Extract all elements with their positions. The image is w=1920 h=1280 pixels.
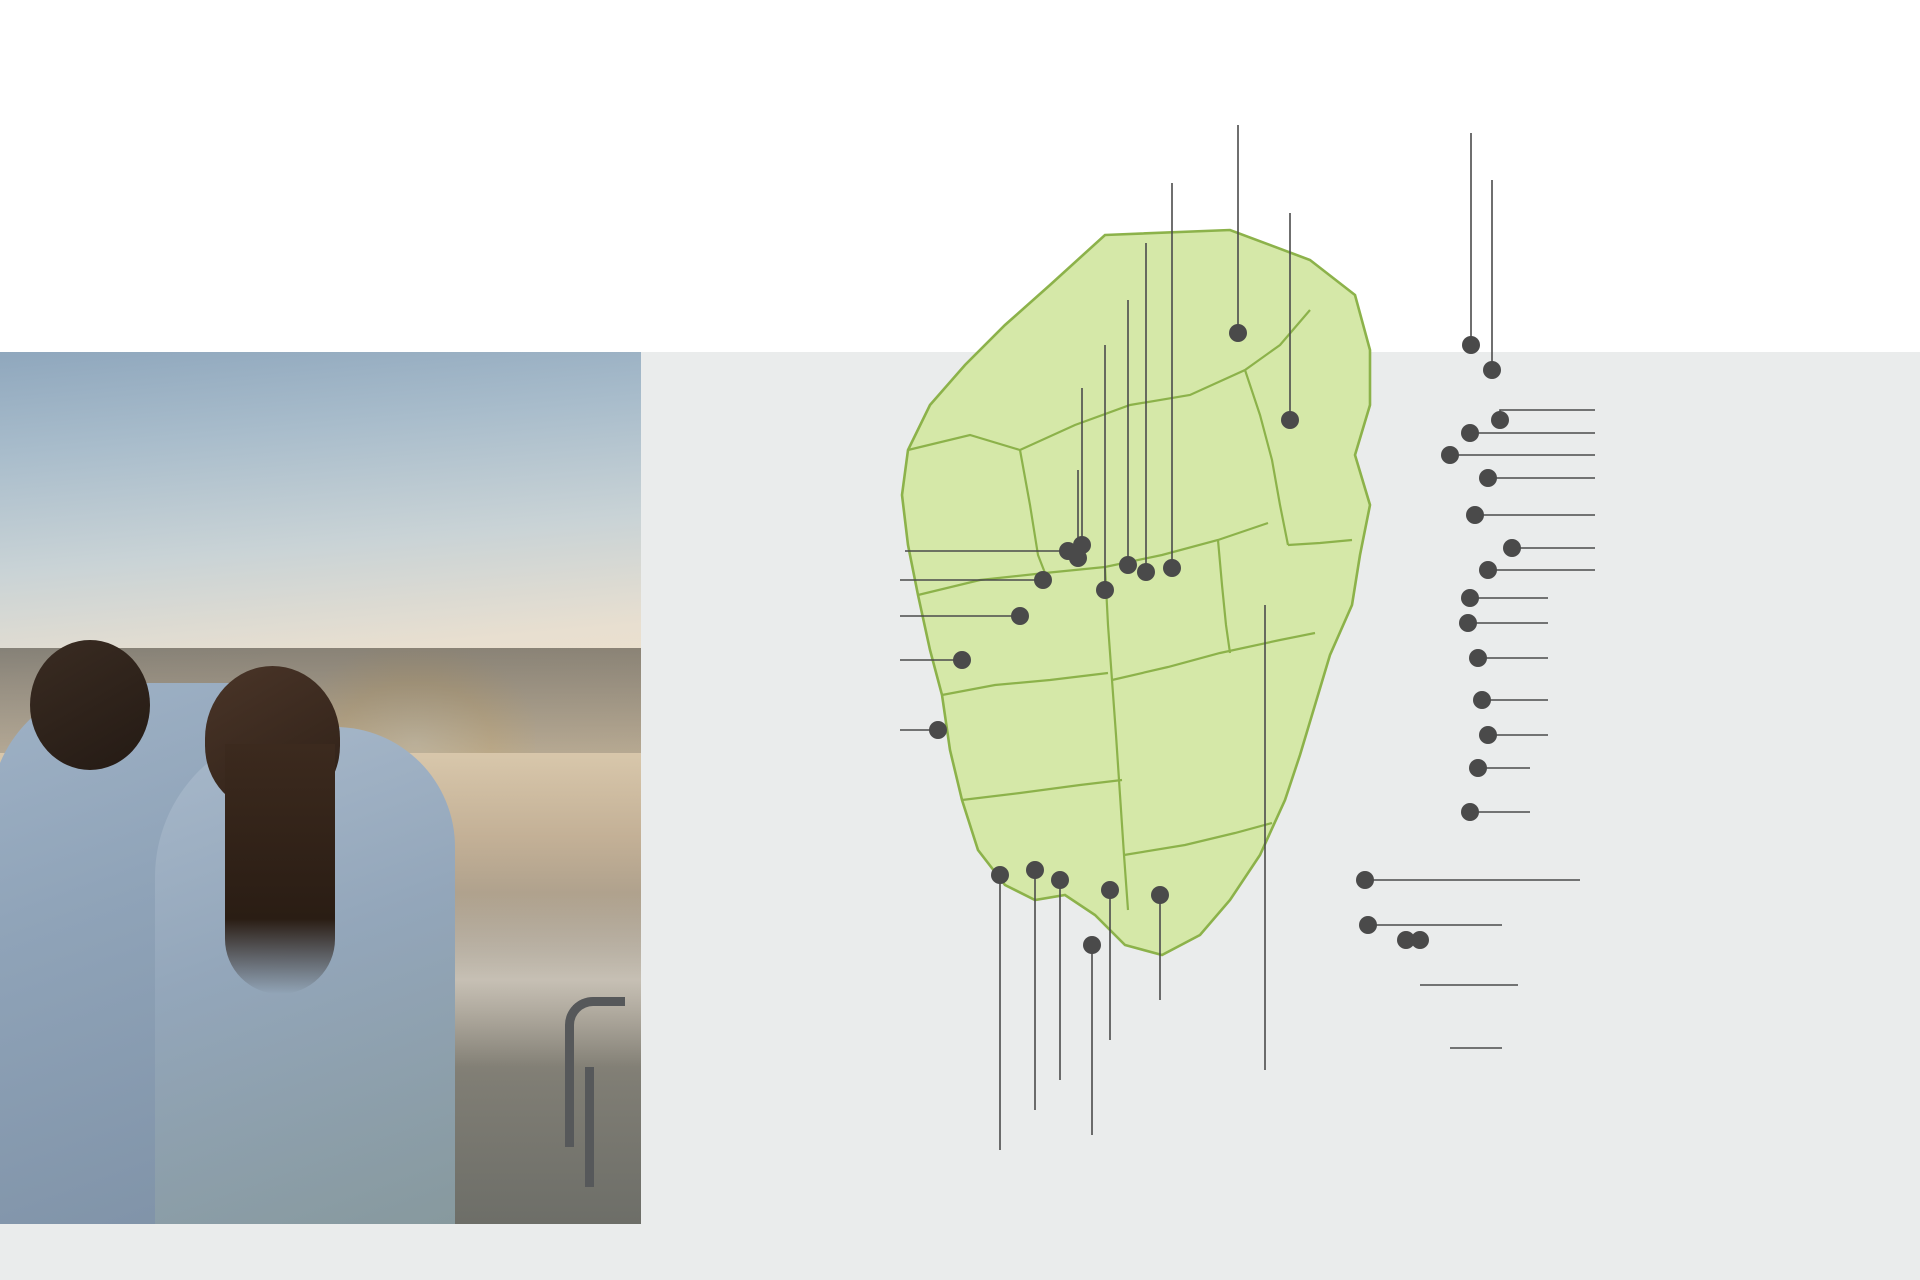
- photo-pool-post: [585, 1067, 594, 1187]
- photo-person-left-head: [30, 640, 150, 770]
- photo-person-right-hair: [225, 744, 335, 994]
- hero-photo-couple-thermal-pool: [0, 352, 641, 1224]
- footer-color-bars: [0, 1218, 1920, 1280]
- photo-pool-handrail: [565, 997, 625, 1147]
- map-entre-rios: [900, 255, 1600, 1095]
- map-province-shape: [902, 230, 1370, 955]
- page-root: [0, 0, 1920, 1280]
